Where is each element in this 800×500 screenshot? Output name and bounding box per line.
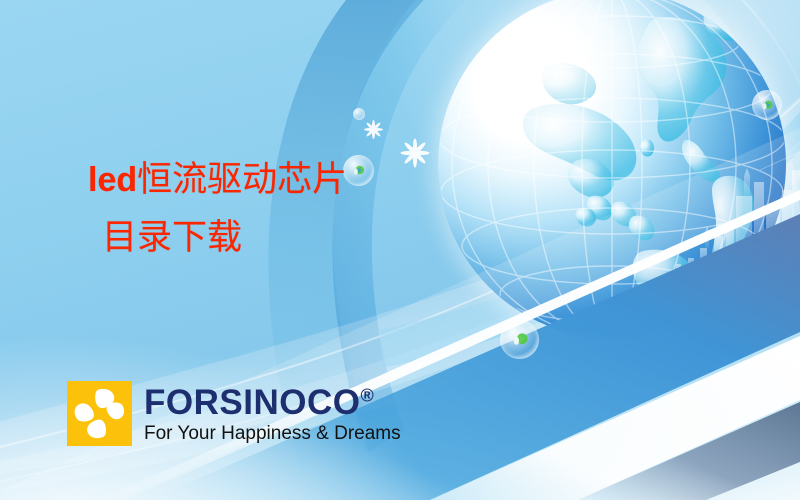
logo-tagline: For Your Happiness & Dreams [144, 424, 401, 443]
company-logo[interactable]: FORSINOCO® For Your Happiness & Dreams [67, 381, 401, 446]
headline: led恒流驱动芯片 目录下载 [88, 162, 418, 255]
registered-trademark-icon: ® [360, 385, 374, 405]
promo-banner: led恒流驱动芯片 目录下载 FORSINOCO® For Your Happ [0, 0, 800, 500]
headline-line-1: led恒流驱动芯片 [88, 162, 418, 197]
headline-line-2: 目录下载 [102, 220, 418, 255]
logo-text-block: FORSINOCO® For Your Happiness & Dreams [144, 385, 401, 443]
globe-gloss-highlight [438, 0, 786, 338]
logo-wordmark: FORSINOCO® [144, 385, 401, 420]
bubble-dot-top-icon [353, 108, 365, 120]
world-globe [438, 0, 786, 338]
forsinoco-pinwheel-mark-icon [67, 381, 132, 446]
headline-latin-word: led [88, 161, 137, 199]
logo-wordmark-text: FORSINOCO [144, 383, 360, 422]
headline-cjk-text: 恒流驱动芯片 [137, 160, 347, 199]
sparkle-flower-small-icon [363, 119, 384, 140]
